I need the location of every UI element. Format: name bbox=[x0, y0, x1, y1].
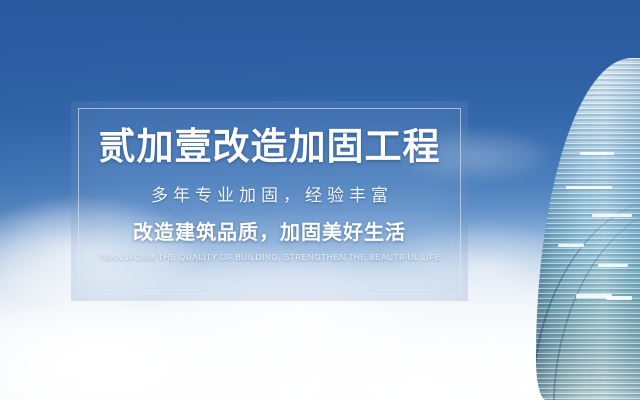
banner-subtitle-secondary: 改造建筑品质，加固美好生活 bbox=[133, 222, 406, 242]
hero-banner: 贰加壹改造加固工程 多年专业加固，经验丰富 改造建筑品质，加固美好生活 TRAN… bbox=[0, 0, 640, 400]
banner-subtitle-english: TRANSFORM THE QUALITY OF BUILDING, STREN… bbox=[98, 253, 440, 262]
banner-subtitle-primary: 多年专业加固，经验丰富 bbox=[146, 188, 393, 205]
headline-panel: 贰加壹改造加固工程 多年专业加固，经验丰富 改造建筑品质，加固美好生活 TRAN… bbox=[71, 101, 468, 301]
panel-content: 贰加壹改造加固工程 多年专业加固，经验丰富 改造建筑品质，加固美好生活 TRAN… bbox=[71, 101, 468, 301]
banner-title: 贰加壹改造加固工程 bbox=[99, 128, 441, 165]
